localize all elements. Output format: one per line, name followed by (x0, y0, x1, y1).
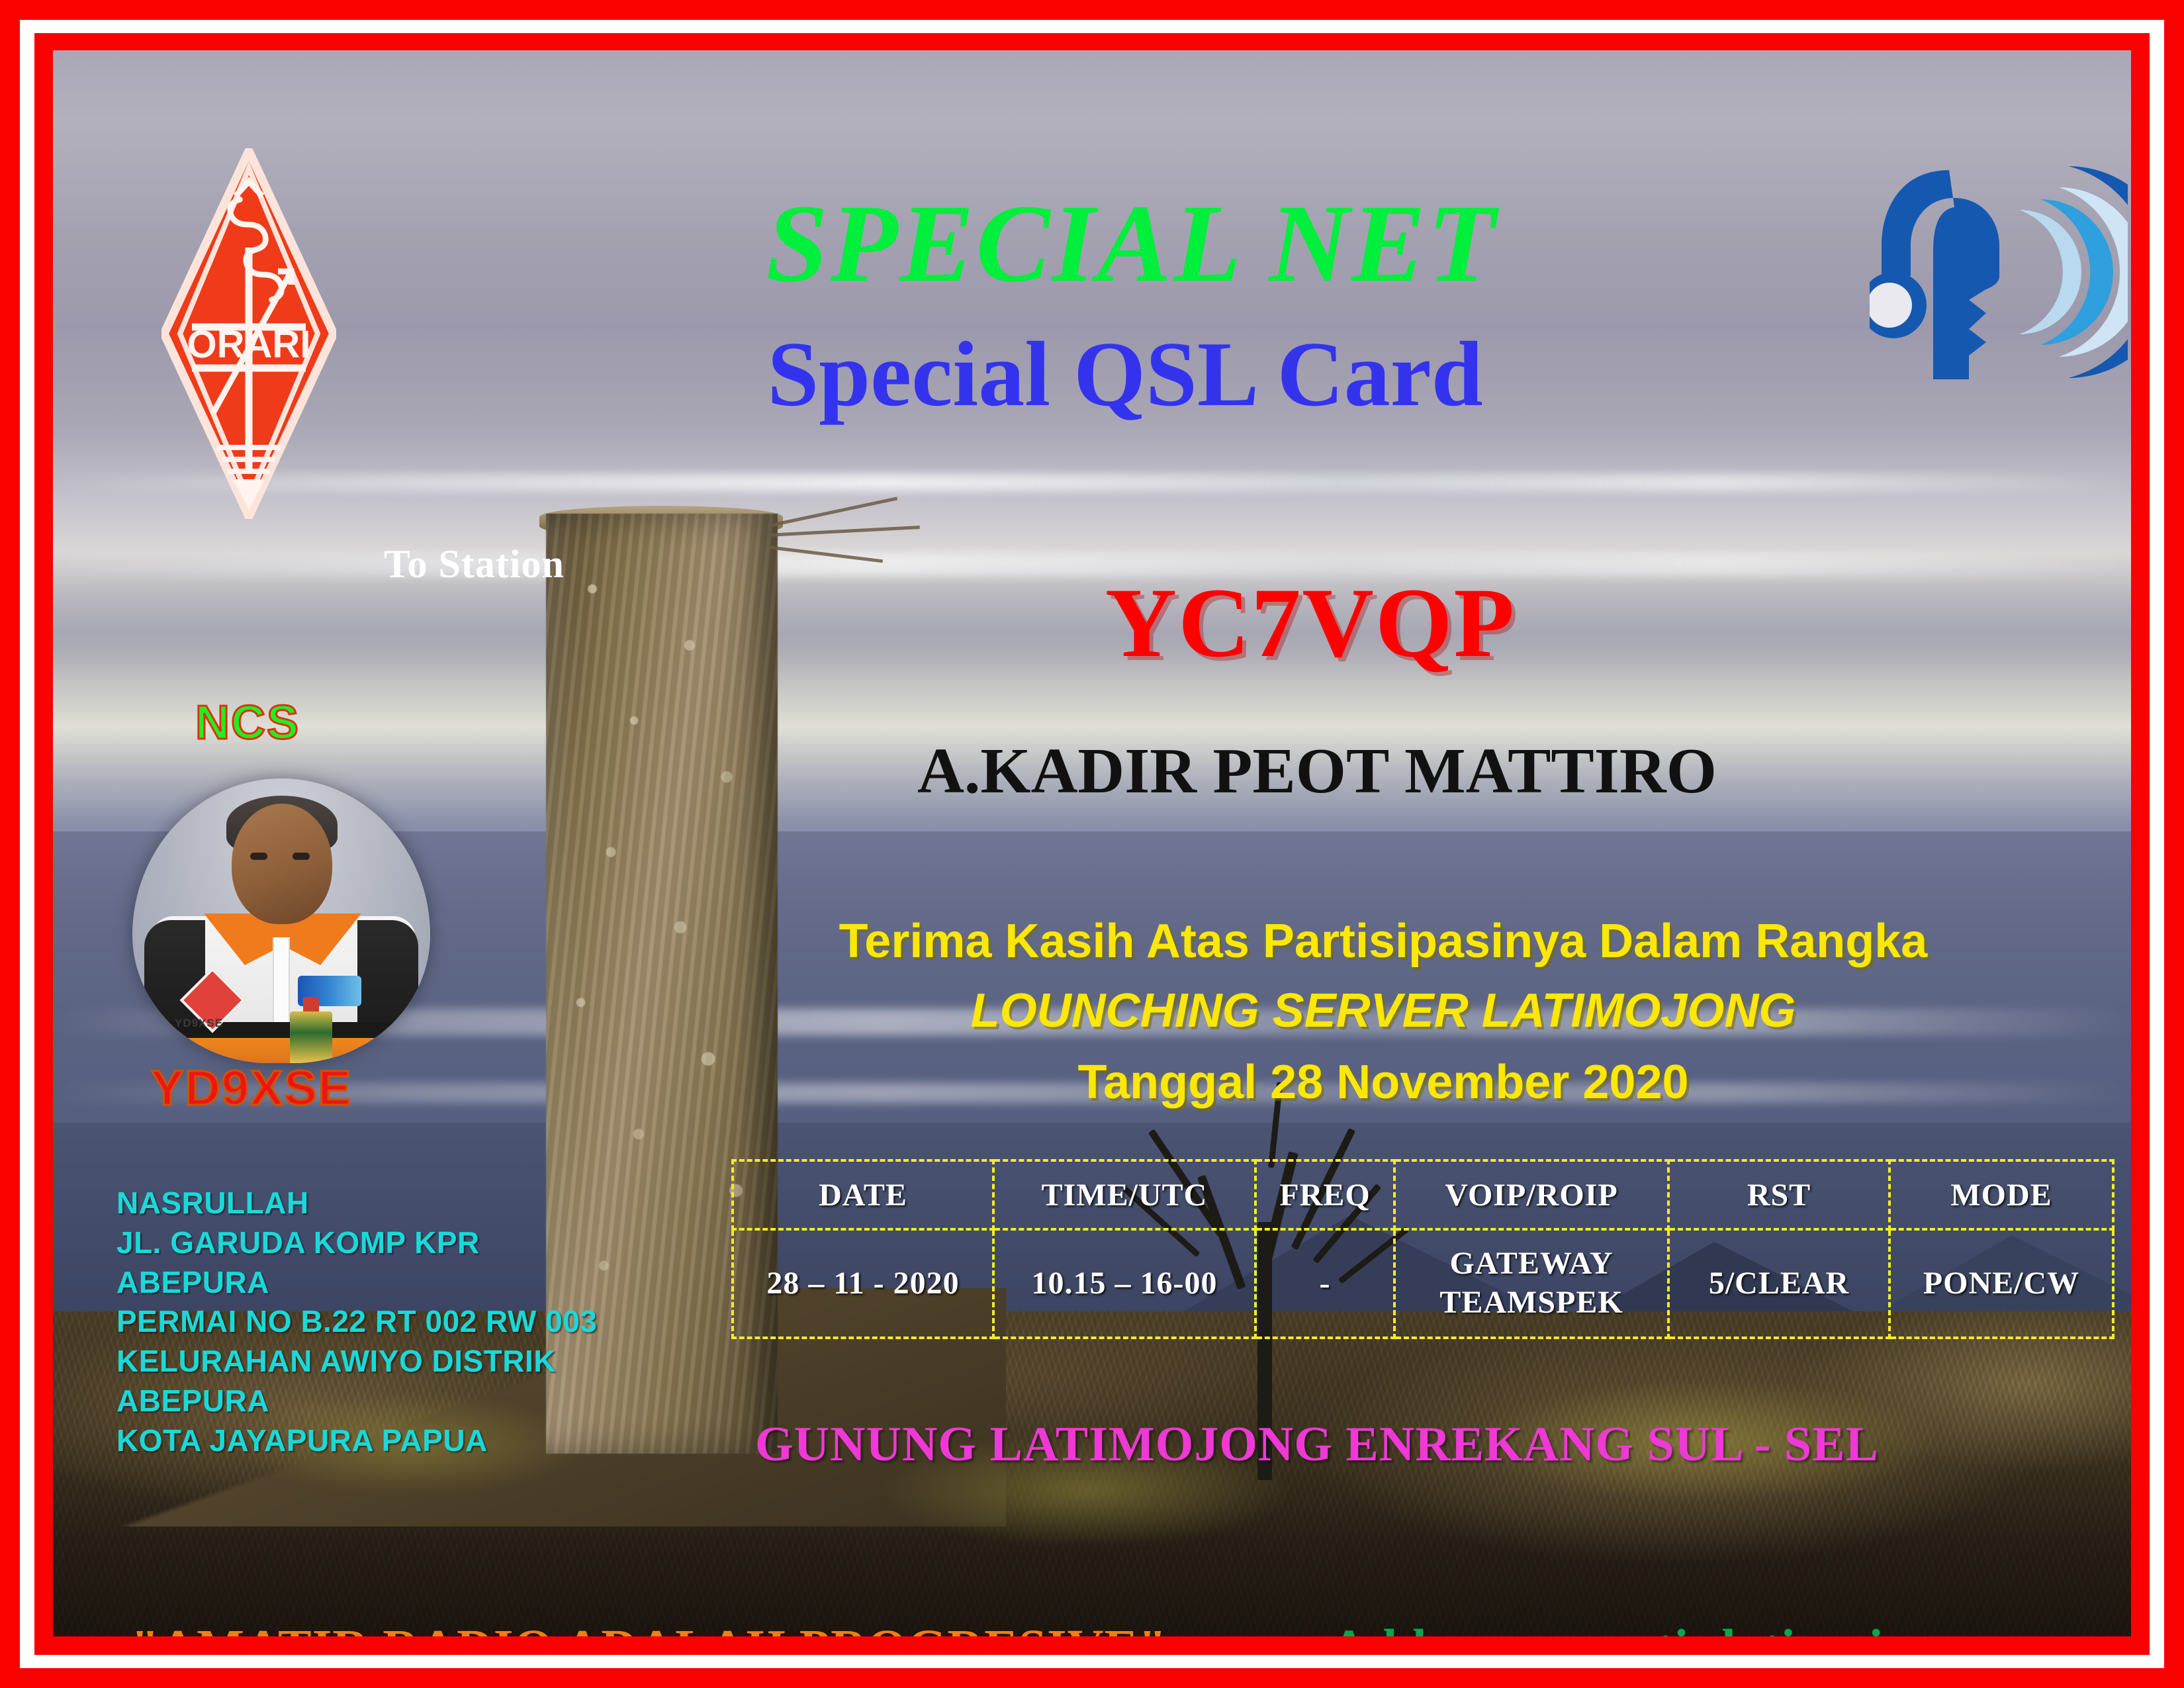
address-line: NASRULLAH (116, 1184, 597, 1223)
ncs-label: NCS (195, 696, 300, 750)
to-station-label: To Station (384, 541, 565, 587)
cell-voip: GATEWAYTEAMSPEK (1394, 1229, 1668, 1338)
page-subtitle-qsl-card: Special QSL Card (53, 328, 2131, 421)
column-header-time: TIME/UTC (993, 1160, 1255, 1229)
recipient-operator-name: A.KADIR PEOT MATTIRO (754, 739, 1880, 804)
column-header-voip: VOIP/ROIP (1394, 1160, 1668, 1229)
photo-id-card (290, 1011, 332, 1063)
table-row: 28 – 11 - 2020 10.15 – 16-00 - GATEWAYTE… (733, 1229, 2113, 1338)
address-line: ABEPURA (116, 1263, 597, 1303)
photo-eye-right (293, 853, 310, 860)
table-header-row: DATE TIME/UTC FREQ VOIP/ROIP RST MODE (733, 1160, 2113, 1229)
address-line: KELURAHAN AWIYO DISTRIK (116, 1342, 597, 1382)
photo-face (232, 804, 332, 924)
cell-freq: - (1255, 1229, 1394, 1338)
address-line: PERMAI NO B.22 RT 002 RW 003 (116, 1302, 597, 1342)
event-thanks-line: Terima Kasih Atas Partisipasinya Dalam R… (741, 914, 2025, 968)
address-line: JL. GARUDA KOMP KPR (116, 1223, 597, 1263)
column-header-rst: RST (1668, 1160, 1889, 1229)
event-name-line: LOUNCHING SERVER LATIMOJONG (741, 984, 2025, 1038)
cell-time: 10.15 – 16-00 (993, 1229, 1255, 1338)
location-line: GUNUNG LATIMOJONG ENREKANG SUL - SEL (688, 1417, 1946, 1473)
column-header-date: DATE (733, 1160, 993, 1229)
cloud-band (53, 474, 2131, 491)
ncs-address-block: NASRULLAH JL. GARUDA KOMP KPR ABEPURA PE… (116, 1184, 597, 1461)
cell-date: 28 – 11 - 2020 (733, 1229, 993, 1338)
page-title-special-net: SPECIAL NET (53, 188, 2131, 299)
photo-eye-left (250, 853, 267, 860)
card-background-photo: ORARI SPECIAL NET Special QSL Card (53, 50, 2131, 1636)
address-line: ABEPURA (116, 1382, 597, 1421)
event-date-line: Tanggal 28 November 2020 (741, 1055, 2025, 1109)
column-header-freq: FREQ (1255, 1160, 1394, 1229)
address-line: KOTA JAYAPURA PAPUA (116, 1421, 597, 1461)
footer-motto: "AMATIR RADIO ADALAH PROGRESIVE" (131, 1619, 1167, 1636)
qso-log-table: DATE TIME/UTC FREQ VOIP/ROIP RST MODE 28… (731, 1159, 2115, 1339)
qsl-card: ORARI SPECIAL NET Special QSL Card (0, 0, 2184, 1688)
cell-mode: PONE/CW (1889, 1229, 2113, 1338)
photo-shirt-callsign: YD9XSE (175, 1017, 223, 1030)
column-header-mode: MODE (1889, 1160, 2113, 1229)
ncs-callsign: YD9XSE (151, 1060, 352, 1116)
cell-rst: 5/CLEAR (1668, 1229, 1889, 1338)
recipient-callsign: YC7VQP (913, 573, 1707, 673)
cloud-band (53, 553, 2131, 576)
footer-web-address[interactable]: Address : amatir.latimojong.com (1330, 1618, 2073, 1636)
